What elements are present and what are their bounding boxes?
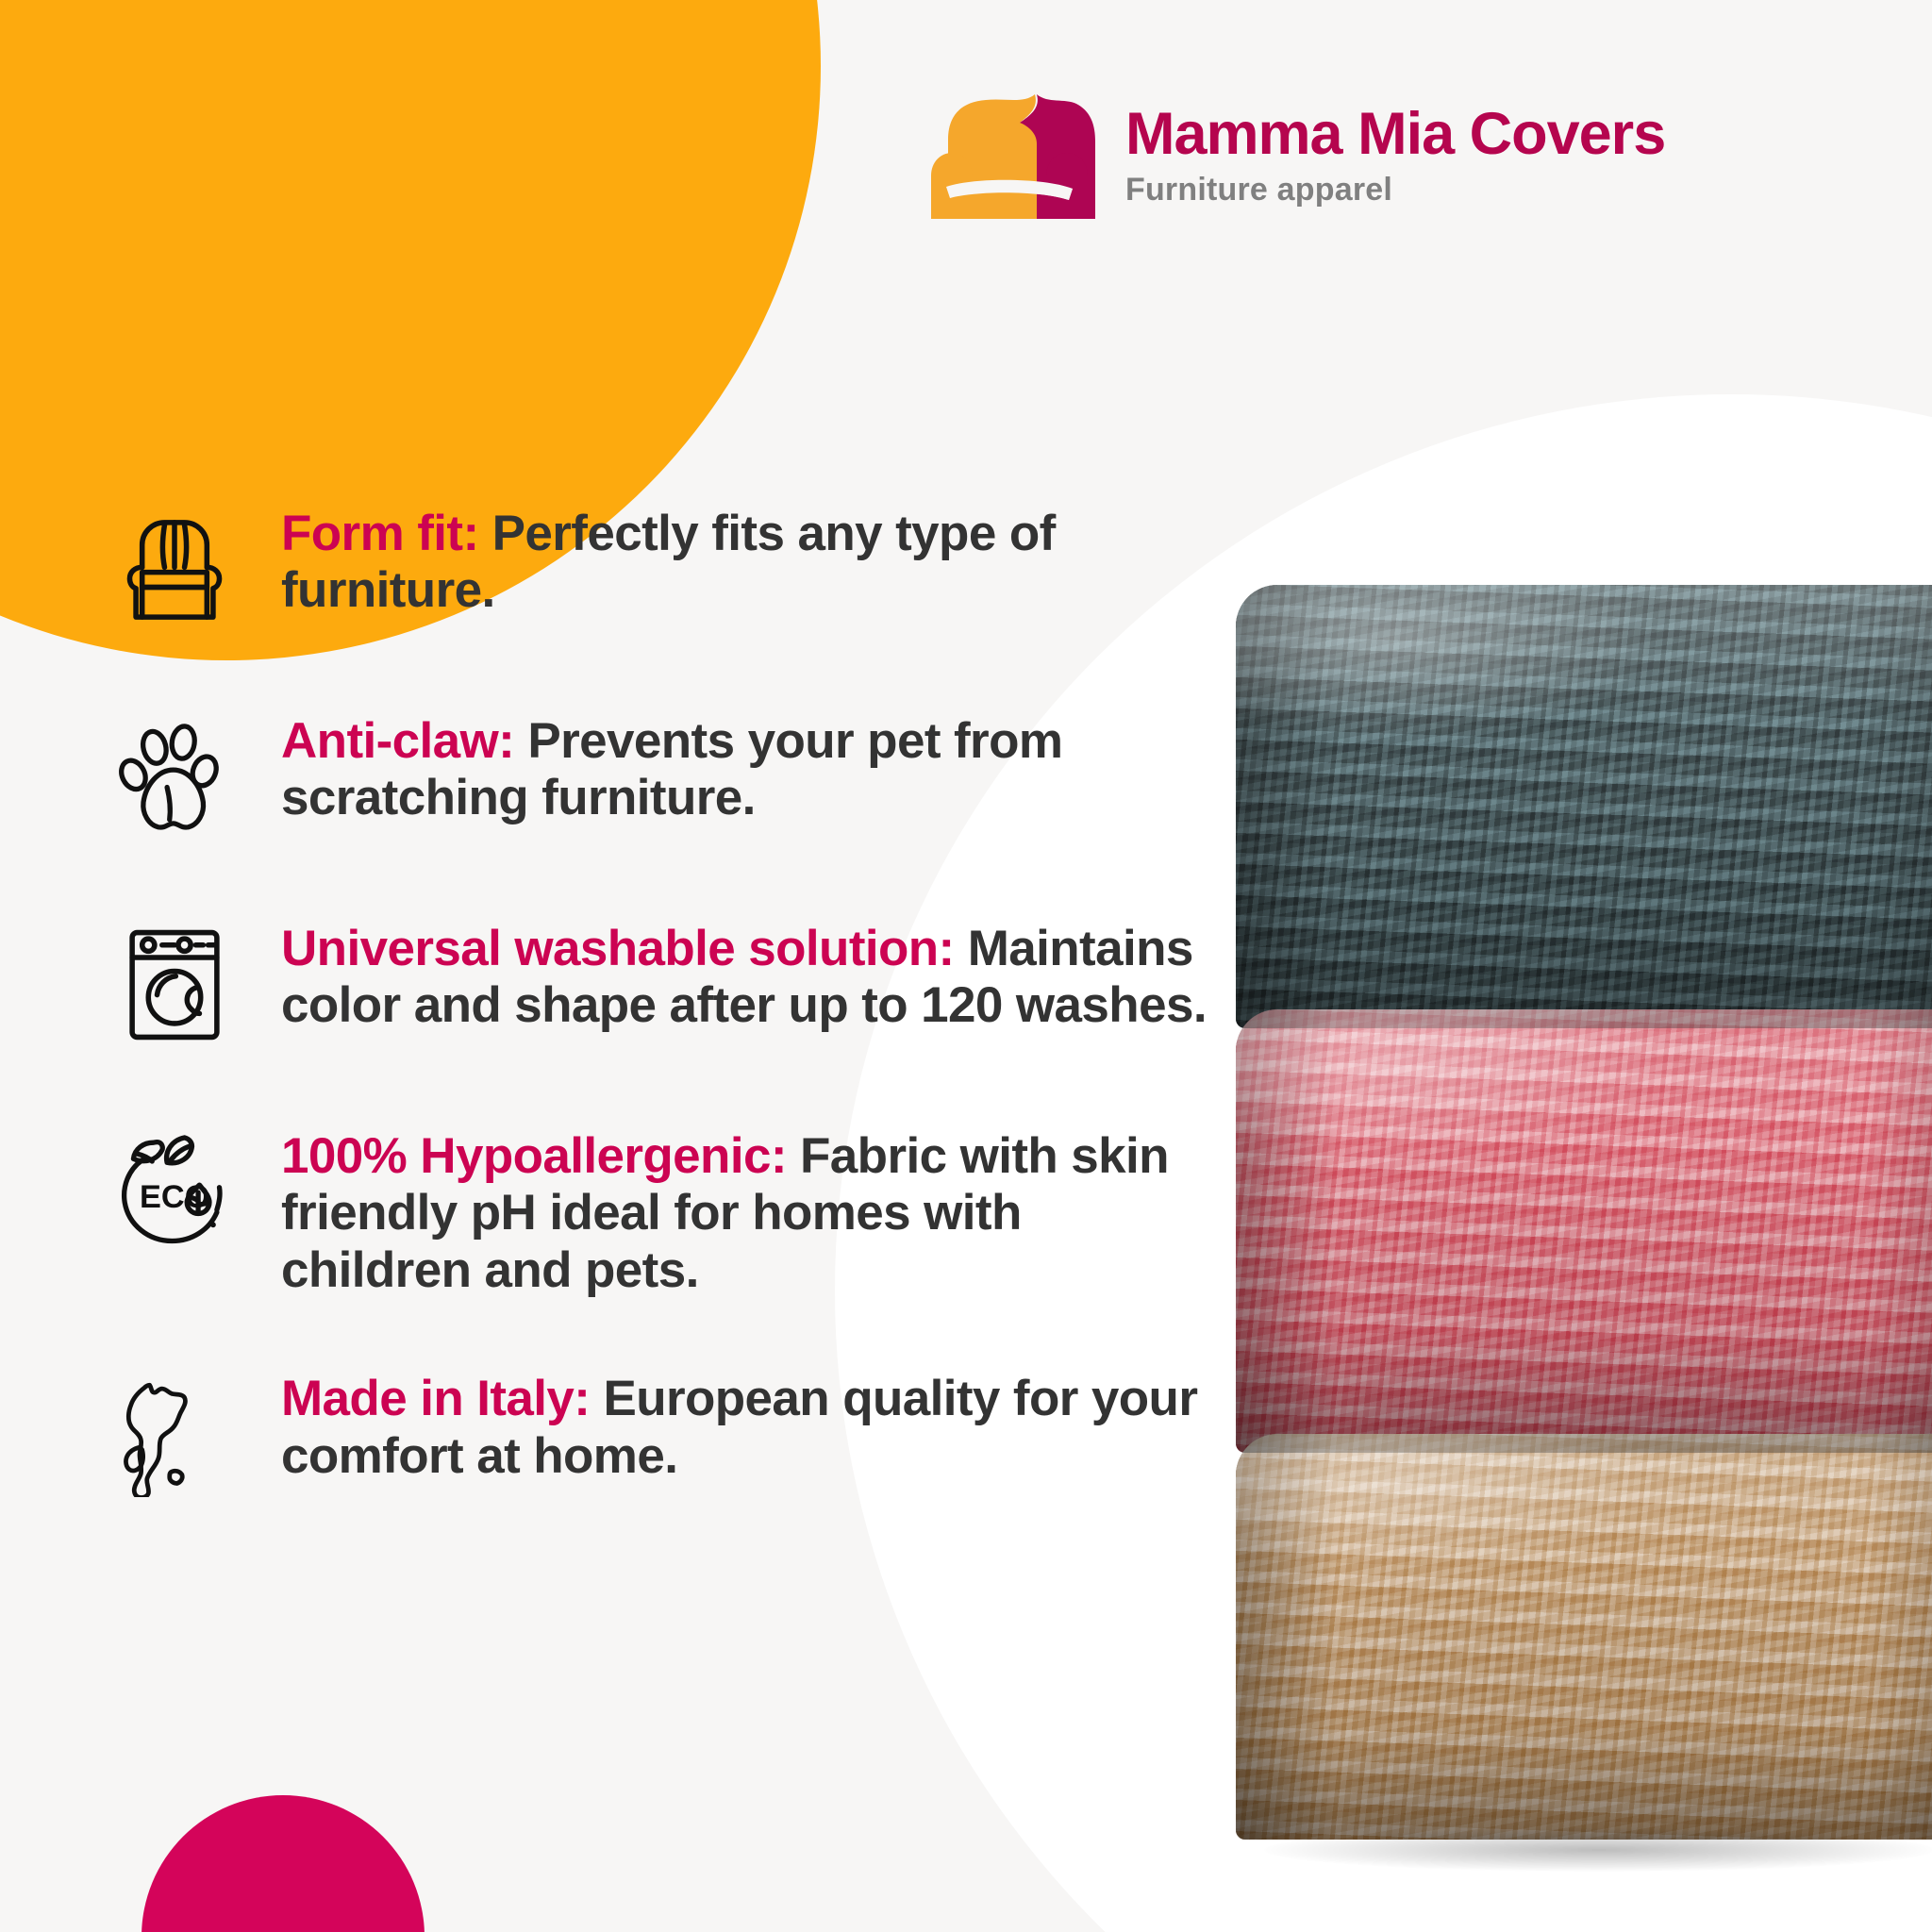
feature-text: Made in Italy: European quality for your… [281, 1365, 1217, 1485]
pink-circle-decoration [142, 1795, 425, 1932]
feature-label: Form fit: [281, 506, 479, 561]
feature-text: 100% Hypoallergenic: Fabric with skin fr… [281, 1123, 1217, 1299]
feature-text: Universal washable solution: Maintains c… [281, 915, 1217, 1035]
feature-label: Anti-claw: [281, 713, 514, 769]
stacked-fabric-covers-photo [1236, 585, 1932, 1840]
brand-title: Mamma Mia Covers [1125, 103, 1665, 165]
beige-slipcover-roll [1236, 1434, 1932, 1840]
feature-item-hypoallergenic: ECO 100% Hypoallergenic: Fabric with ski… [104, 1123, 1217, 1299]
feature-list: Form fit: Perfectly fits any type of fur… [104, 500, 1217, 1573]
washing-machine-icon [104, 915, 245, 1057]
pink-slipcover-roll [1236, 1009, 1932, 1453]
feature-text: Anti-claw: Prevents your pet from scratc… [281, 708, 1217, 827]
paw-print-icon [104, 708, 245, 849]
feature-item-washable: Universal washable solution: Maintains c… [104, 915, 1217, 1057]
feature-item-made-in-italy: Made in Italy: European quality for your… [104, 1365, 1217, 1507]
armchair-icon [104, 500, 245, 641]
brand-subtitle: Furniture apparel [1125, 172, 1665, 208]
feature-label: Universal washable solution: [281, 921, 955, 976]
feature-item-anti-claw: Anti-claw: Prevents your pet from scratc… [104, 708, 1217, 849]
italy-map-icon [104, 1365, 245, 1507]
feature-item-form-fit: Form fit: Perfectly fits any type of fur… [104, 500, 1217, 641]
armchair-logo-icon [920, 85, 1099, 226]
eco-leaf-icon: ECO [104, 1123, 245, 1264]
teal-slipcover-roll [1236, 585, 1932, 1028]
feature-label: Made in Italy: [281, 1371, 590, 1426]
feature-text: Form fit: Perfectly fits any type of fur… [281, 500, 1217, 620]
brand-lockup: Mamma Mia Covers Furniture apparel [920, 85, 1665, 226]
feature-label: 100% Hypoallergenic: [281, 1128, 787, 1184]
poster-canvas: Mamma Mia Covers Furniture apparel Form … [0, 0, 1932, 1932]
